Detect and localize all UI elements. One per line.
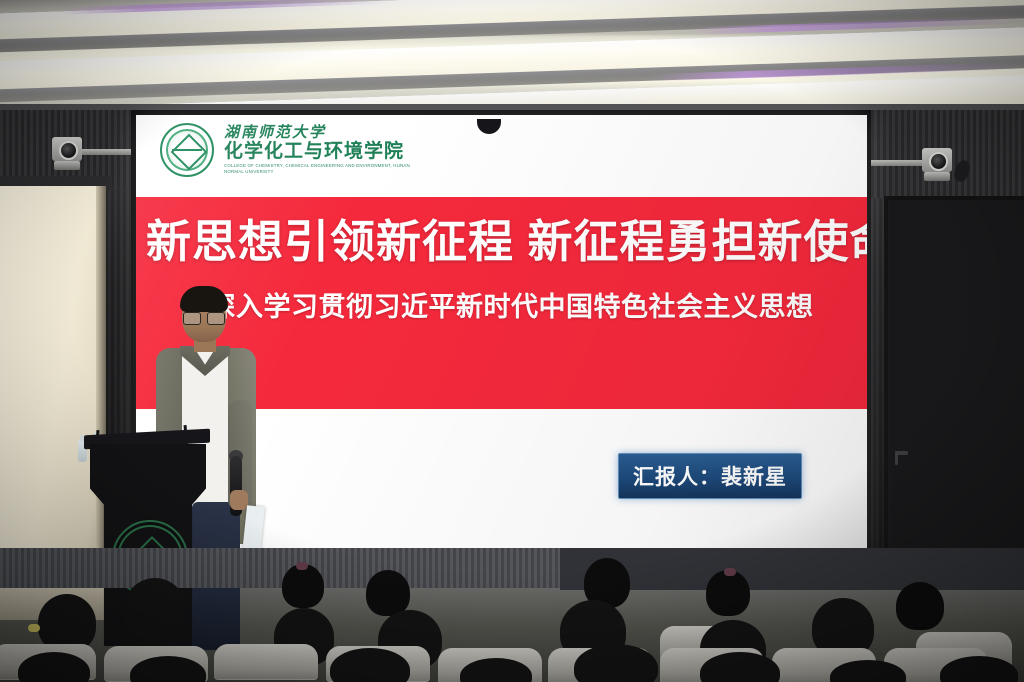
seated-audience <box>0 548 1024 682</box>
door-handle-icon[interactable] <box>895 451 898 465</box>
camera-base <box>924 172 950 181</box>
presenter-badge: 汇报人：裴新星 <box>618 453 802 499</box>
camera-lens-icon <box>929 152 948 171</box>
camera-body <box>52 137 82 161</box>
audience-head <box>366 570 410 616</box>
camera-lens-icon <box>59 141 78 160</box>
ceiling <box>0 0 1024 112</box>
slide-logo-text: 湖南师范大学 化学化工与环境学院 COLLEGE OF CHEMISTRY, C… <box>224 124 429 175</box>
hair <box>180 286 228 312</box>
slide-main-title: 新思想引领新征程 新征程勇担新使命 <box>146 219 857 264</box>
college-name-english: COLLEGE OF CHEMISTRY, CHEMICAL ENGINEERI… <box>224 163 429 176</box>
slide-logo: 湖南师范大学 化学化工与环境学院 COLLEGE OF CHEMISTRY, C… <box>160 123 429 177</box>
hair-accessory <box>724 568 736 576</box>
hand <box>230 490 248 510</box>
side-door-right[interactable] <box>884 196 1024 592</box>
hair-accessory <box>296 562 308 570</box>
screenshot-root: 湖南师范大学 化学化工与环境学院 COLLEGE OF CHEMISTRY, C… <box>0 0 1024 682</box>
audience-head <box>706 570 750 616</box>
eyeglasses-icon <box>183 312 225 323</box>
camera-mount-arm <box>82 149 136 155</box>
hair-accessory <box>28 624 40 632</box>
university-name: 湖南师范大学 <box>224 124 429 141</box>
college-name: 化学化工与环境学院 <box>224 141 429 163</box>
auditorium-seat <box>214 644 318 680</box>
audience-head <box>282 564 324 608</box>
audience-head <box>124 578 186 640</box>
university-seal-icon <box>160 123 214 177</box>
camera-body <box>922 148 952 172</box>
camera-base <box>54 161 80 170</box>
